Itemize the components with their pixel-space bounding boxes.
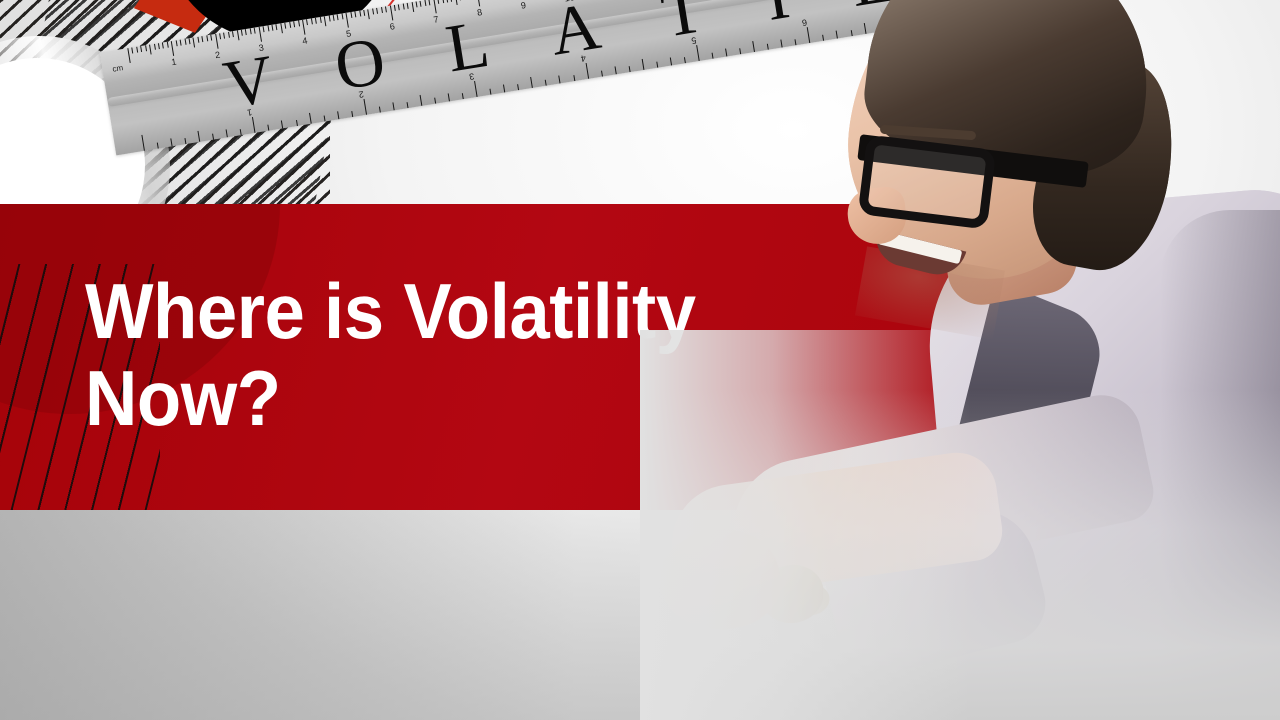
ruler-number-bottom: 2	[358, 89, 365, 100]
page-title: Where is Volatility Now?	[85, 268, 792, 443]
presentation-slide: 123456789101112131415161718192021222324 …	[0, 0, 1280, 720]
bottom-gradient-shade	[0, 500, 1280, 720]
ruler-number-bottom: 4	[580, 53, 587, 64]
ruler-unit-cm-label: cm	[112, 63, 124, 74]
